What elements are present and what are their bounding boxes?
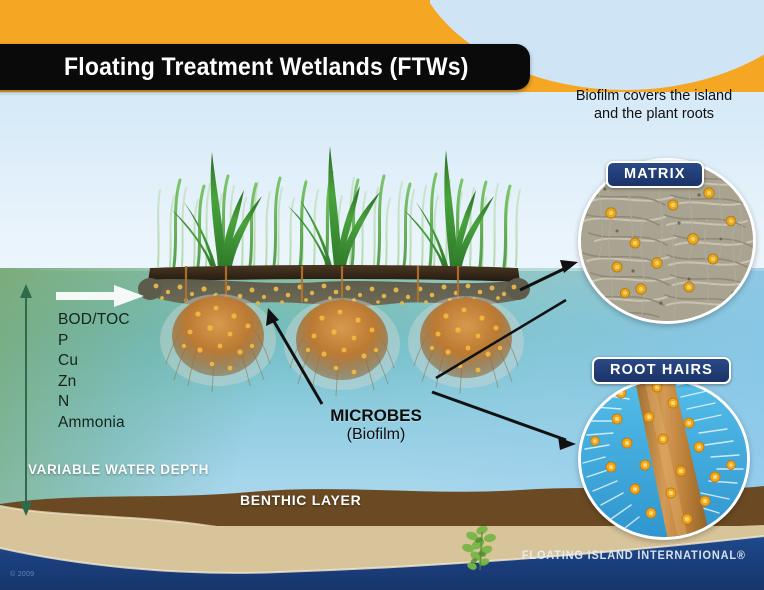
biofilm-note-line2: and the plant roots bbox=[548, 106, 760, 124]
biofilm-note-line1: Biofilm covers the island bbox=[548, 88, 760, 106]
variable-depth-arrow-icon bbox=[18, 284, 34, 516]
wetland-plants-graphic bbox=[150, 138, 522, 268]
variable-water-depth-label: VARIABLE WATER DEPTH bbox=[28, 462, 209, 477]
aquatic-plant-icon bbox=[452, 526, 514, 576]
brand-wordmark: FLOATING ISLAND INTERNATIONAL® bbox=[522, 550, 746, 562]
pollutant-list: BOD/TOC P Cu Zn N Ammonia bbox=[58, 310, 130, 434]
pollutant-item: N bbox=[58, 392, 130, 413]
pollutant-item: BOD/TOC bbox=[58, 310, 130, 331]
root-hairs-badge: ROOT HAIRS bbox=[592, 357, 731, 384]
microbes-subtitle: (Biofilm) bbox=[296, 426, 456, 445]
page-title: Floating Treatment Wetlands (FTWs) bbox=[51, 53, 468, 82]
microbes-label: MICROBES (Biofilm) bbox=[296, 406, 456, 445]
pollutant-item: Zn bbox=[58, 372, 130, 393]
pollutant-item: Cu bbox=[58, 351, 130, 372]
plant-root-masses bbox=[160, 288, 522, 400]
infographic-canvas: FLOATING ISLAND INTERNATIONAL® © 2009 bbox=[0, 0, 764, 590]
microbes-title: MICROBES bbox=[296, 406, 456, 426]
water-flow-arrow-icon bbox=[56, 283, 146, 309]
pollutant-item: Ammonia bbox=[58, 413, 130, 434]
root-hairs-callout-circle bbox=[578, 378, 750, 540]
biofilm-note: Biofilm covers the island and the plant … bbox=[548, 88, 760, 123]
matrix-badge: MATRIX bbox=[606, 161, 704, 188]
title-banner: Floating Treatment Wetlands (FTWs) bbox=[0, 44, 530, 90]
pollutant-item: P bbox=[58, 331, 130, 352]
copyright-notice: © 2009 bbox=[10, 571, 34, 578]
benthic-layer-label: BENTHIC LAYER bbox=[240, 492, 361, 508]
root-hairs-texture bbox=[581, 381, 747, 537]
